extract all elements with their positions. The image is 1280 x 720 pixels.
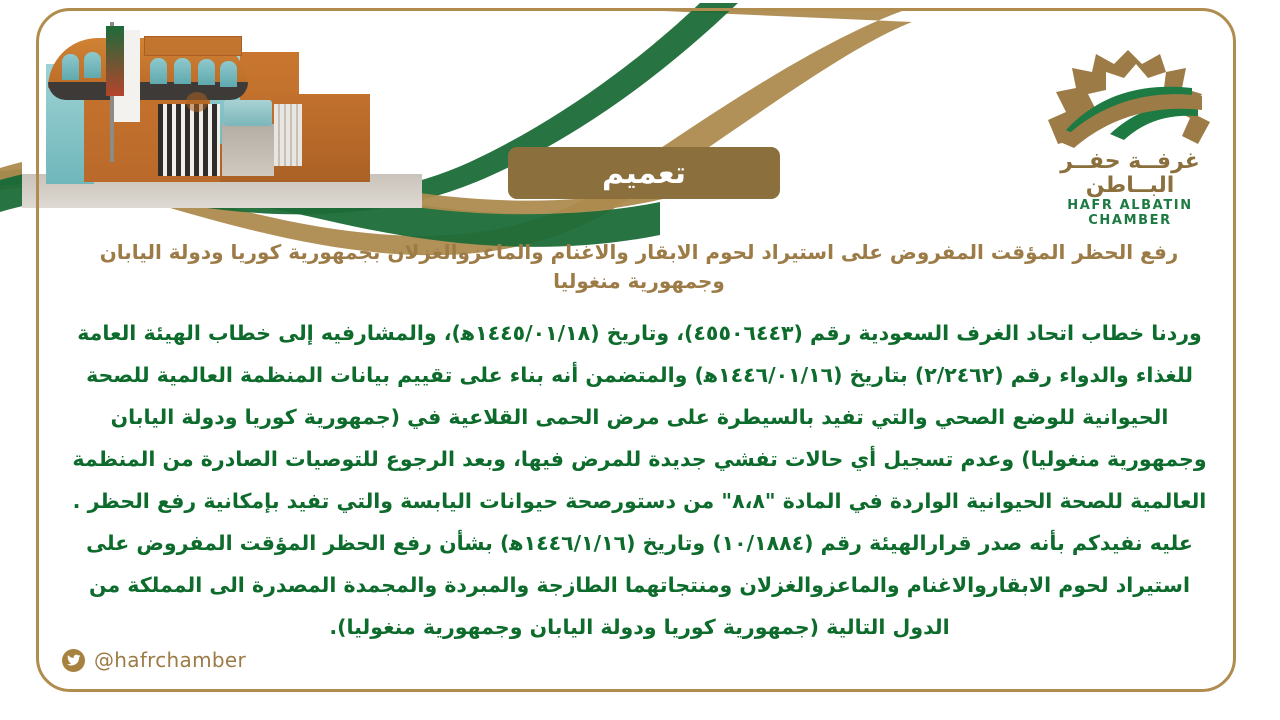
circular-type-badge: تعميم xyxy=(508,147,780,199)
chamber-building-photo xyxy=(22,12,422,208)
logo-arabic-name: غرفــة حفــر البــاطن xyxy=(1040,150,1220,198)
body-paragraph-1: وردنا خطاب اتحاد الغرف السعودية رقم (٤٥٥… xyxy=(62,312,1217,522)
social-handle[interactable]: @hafrchamber xyxy=(62,648,246,672)
logo-mark-icon xyxy=(1040,48,1220,148)
body-paragraph-2: عليه نفيدكم بأنه صدر قرارالهيئة رقم (١٠/… xyxy=(62,522,1217,648)
twitter-icon[interactable] xyxy=(62,649,85,672)
twitter-handle-text[interactable]: @hafrchamber xyxy=(94,648,246,672)
logo-english-name: HAFR ALBATIN CHAMBER xyxy=(1040,198,1220,228)
hafr-albatin-chamber-logo: غرفــة حفــر البــاطن HAFR ALBATIN CHAMB… xyxy=(1040,48,1220,200)
announcement-body: وردنا خطاب اتحاد الغرف السعودية رقم (٤٥٥… xyxy=(62,312,1217,648)
circular-announcement-page: تعميم غرفــة حفــر البــاطن HAFR ALBATIN… xyxy=(0,0,1280,720)
page-title: رفع الحظر المؤقت المفروض على استيراد لحو… xyxy=(64,238,1214,296)
